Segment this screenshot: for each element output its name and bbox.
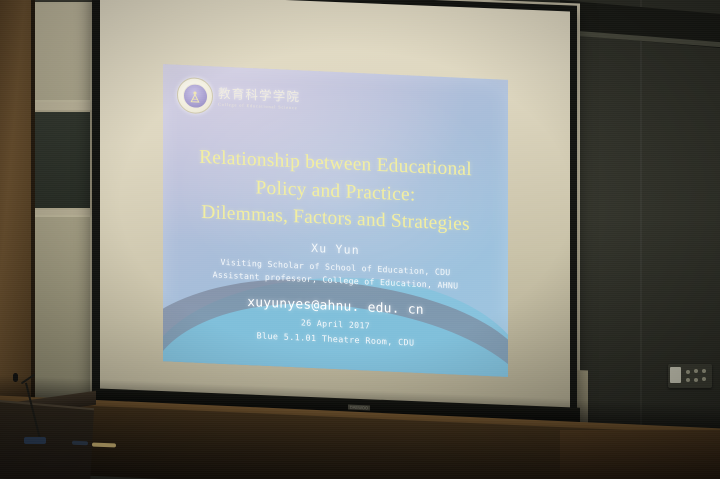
- college-emblem-icon: [177, 77, 213, 115]
- lecture-theatre-photo: 教育科学学院 College of Educational Science Re…: [0, 0, 720, 479]
- slide-presenter-block: Xu Yun Visiting Scholar of School of Edu…: [163, 234, 508, 351]
- slide-title: Relationship between Educational Policy …: [171, 143, 500, 241]
- right-desk-section: [560, 430, 720, 479]
- panel-button-2[interactable]: [694, 369, 698, 373]
- whiteboard-marker[interactable]: [92, 443, 116, 448]
- panel-button-6[interactable]: [702, 377, 706, 381]
- microphone-base: [24, 437, 46, 444]
- panel-button-3[interactable]: [702, 369, 706, 373]
- panel-button-5[interactable]: [694, 378, 698, 382]
- microphone-head-icon: [13, 373, 18, 382]
- wall-control-panel[interactable]: [668, 364, 712, 388]
- light-switch-icon[interactable]: [670, 367, 681, 383]
- lectern[interactable]: [0, 400, 94, 479]
- panel-button-1[interactable]: [686, 370, 690, 374]
- wooden-door[interactable]: [0, 0, 34, 420]
- presentation-slide: 教育科学学院 College of Educational Science Re…: [163, 64, 508, 377]
- remote-control[interactable]: [72, 441, 88, 446]
- emblem-figure-icon: [188, 89, 203, 105]
- college-logo: 教育科学学院 College of Educational Science: [177, 77, 300, 119]
- door-edge: [31, 0, 35, 420]
- college-logo-text: 教育科学学院 College of Educational Science: [218, 87, 300, 110]
- panel-button-4[interactable]: [686, 378, 690, 382]
